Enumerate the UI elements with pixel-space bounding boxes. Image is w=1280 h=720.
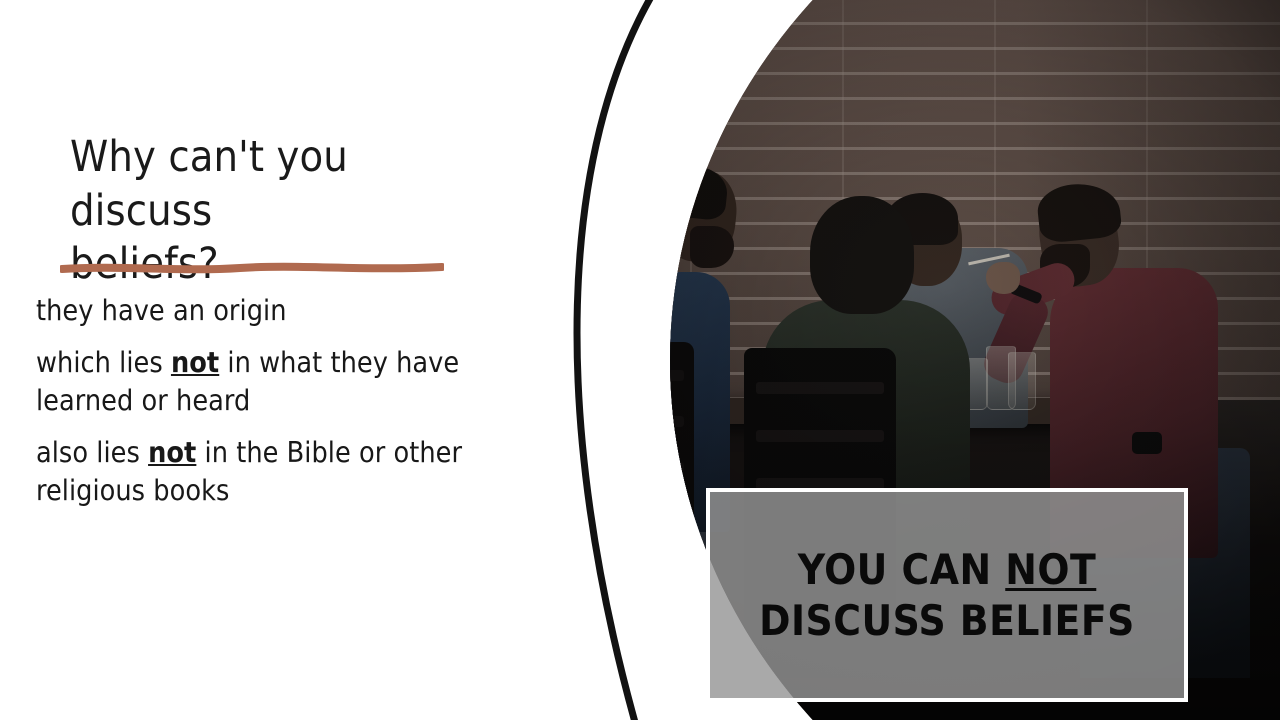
photo-color-grade <box>540 0 1280 720</box>
bullet-not-learned-prefix: which lies <box>36 346 171 379</box>
bullet-list: they have an origin which lies not in wh… <box>36 292 514 509</box>
bullet-not-bible: also lies not in the Bible or other reli… <box>36 434 514 510</box>
slide-canvas: YOU CAN NOT DISCUSS BELIEFS Why can't yo… <box>0 0 1280 720</box>
wall-crack <box>648 44 661 244</box>
bullet-not-bible-prefix: also lies <box>36 436 148 469</box>
text-column: Why can't you discuss beliefs? they have… <box>0 0 560 720</box>
photo-clip-mask <box>540 0 1280 720</box>
bullet-origin: they have an origin <box>36 292 514 330</box>
bullet-not-learned-emphasis: not <box>171 346 219 379</box>
conversation-photo[interactable] <box>540 0 1280 720</box>
bullet-origin-text: they have an origin <box>36 294 287 327</box>
bullet-not-bible-emphasis: not <box>148 436 196 469</box>
bullet-not-learned: which lies not in what they have learned… <box>36 344 514 420</box>
title-line-1: Why can't you discuss <box>70 132 348 236</box>
title-underline-accent <box>60 258 444 278</box>
